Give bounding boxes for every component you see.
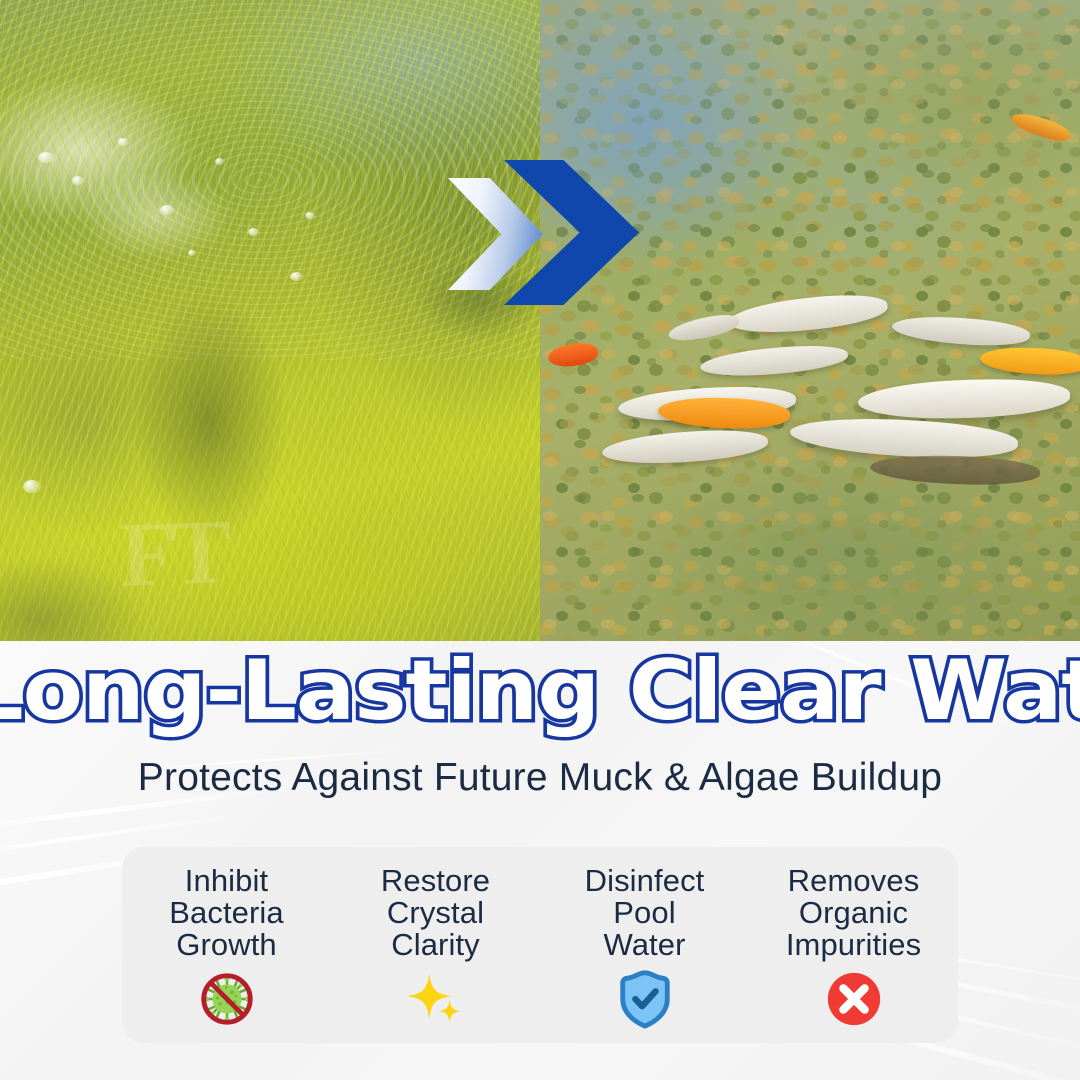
before-photo-algae-water: FT: [0, 0, 540, 641]
sparkle-icon: [405, 968, 467, 1030]
before-after-arrow: [448, 160, 638, 305]
feature-benefits-card: Inhibit Bacteria Growth: [122, 847, 958, 1043]
water-bubbles: [0, 0, 540, 641]
feature-label: Removes Organic Impurities: [786, 865, 921, 961]
feature-label: Disinfect Pool Water: [585, 865, 705, 961]
feature-item-inhibit-bacteria-growth: Inhibit Bacteria Growth: [127, 865, 327, 1030]
feature-item-disinfect-pool-water: Disinfect Pool Water: [545, 865, 745, 1030]
chevron-right-light-icon: [448, 178, 543, 290]
feature-item-removes-organic-impurities: Removes Organic Impurities: [754, 865, 954, 1030]
before-after-photo-section: FT: [0, 0, 1080, 641]
after-photo-clear-water: [540, 0, 1080, 641]
message-section: Long-Lasting Clear Water Protects Agains…: [0, 641, 1080, 1080]
feature-item-restore-crystal-clarity: Restore Crystal Clarity: [336, 865, 536, 1030]
page-title: Long-Lasting Clear Water: [0, 649, 1080, 732]
no-bacteria-icon: [196, 968, 258, 1030]
feature-label: Restore Crystal Clarity: [381, 865, 490, 961]
feature-label: Inhibit Bacteria Growth: [169, 865, 284, 961]
promo-poster: FT: [0, 0, 1080, 1080]
shield-check-icon: [614, 968, 676, 1030]
red-x-circle-icon: [823, 968, 885, 1030]
photo-watermark: FT: [118, 498, 227, 608]
page-subtitle: Protects Against Future Muck & Algae Bui…: [0, 756, 1080, 800]
